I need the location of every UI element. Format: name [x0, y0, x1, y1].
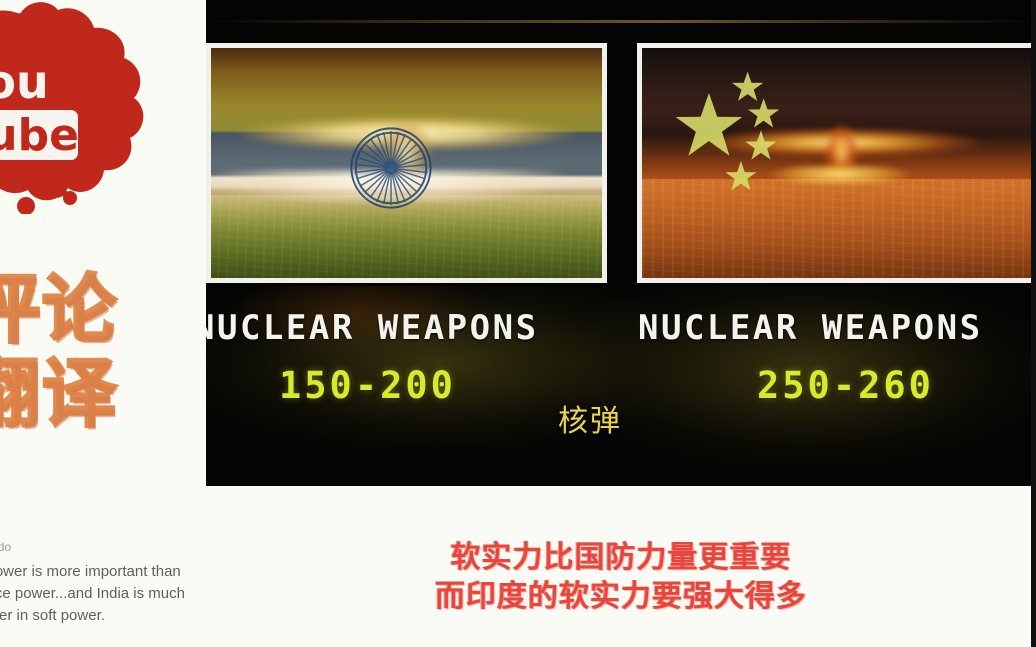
- bottom-subtitle: 软实力比国防力量更重要 而印度的软实力要强大得多: [206, 538, 1036, 616]
- comment-line-3: onger in soft power.: [0, 605, 206, 627]
- stage-sheen: [206, 20, 1036, 23]
- nuclear-weapons-label-india: NUCLEAR WEAPONS: [206, 308, 539, 348]
- page-right-edge: [1031, 0, 1036, 647]
- channel-title: 评论 翻译: [0, 268, 206, 436]
- channel-title-line1: 评论: [0, 268, 206, 352]
- caption-band: NUCLEAR WEAPONS 150-200 NUCLEAR WEAPONS …: [206, 286, 1036, 486]
- video-stage[interactable]: NUCLEAR WEAPONS 150-200 NUCLEAR WEAPONS …: [206, 0, 1036, 486]
- comment-line-1: ft power is more important than: [0, 561, 206, 583]
- youtube-logo-text-you: You: [0, 55, 49, 109]
- china-flag-stars-icon: [658, 69, 824, 202]
- center-subtitle: 核弹: [558, 396, 622, 440]
- panel-china: [637, 43, 1036, 283]
- nuclear-weapons-value-india: 150-200: [279, 364, 456, 407]
- channel-title-line2: 翻译: [0, 352, 206, 436]
- bottom-subtitle-line1: 软实力比国防力量更重要: [206, 538, 1036, 577]
- comment-line-2: fence power...and India is much: [0, 583, 206, 605]
- youtube-logo-text-tube: Tube: [0, 110, 79, 161]
- china-nuclear-blast-image: [642, 48, 1036, 278]
- youtube-splat-logo-icon[interactable]: You Tube: [0, 2, 158, 214]
- nuclear-weapons-value-china: 250-260: [757, 364, 934, 407]
- screenshot-root: NUCLEAR WEAPONS 150-200 NUCLEAR WEAPONS …: [0, 0, 1036, 647]
- branding-column: You Tube 评论 翻译 m Vido ft power is more i…: [0, 0, 206, 647]
- panel-india: [206, 43, 607, 283]
- india-nuclear-blast-image: [211, 48, 602, 278]
- comment-author: m Vido: [0, 540, 206, 555]
- bottom-subtitle-line2: 而印度的软实力要强大得多: [206, 577, 1036, 616]
- ashoka-chakra-icon: [347, 124, 435, 212]
- comment-snippet: m Vido ft power is more important than f…: [0, 540, 206, 627]
- nuclear-weapons-label-china: NUCLEAR WEAPONS: [638, 308, 983, 348]
